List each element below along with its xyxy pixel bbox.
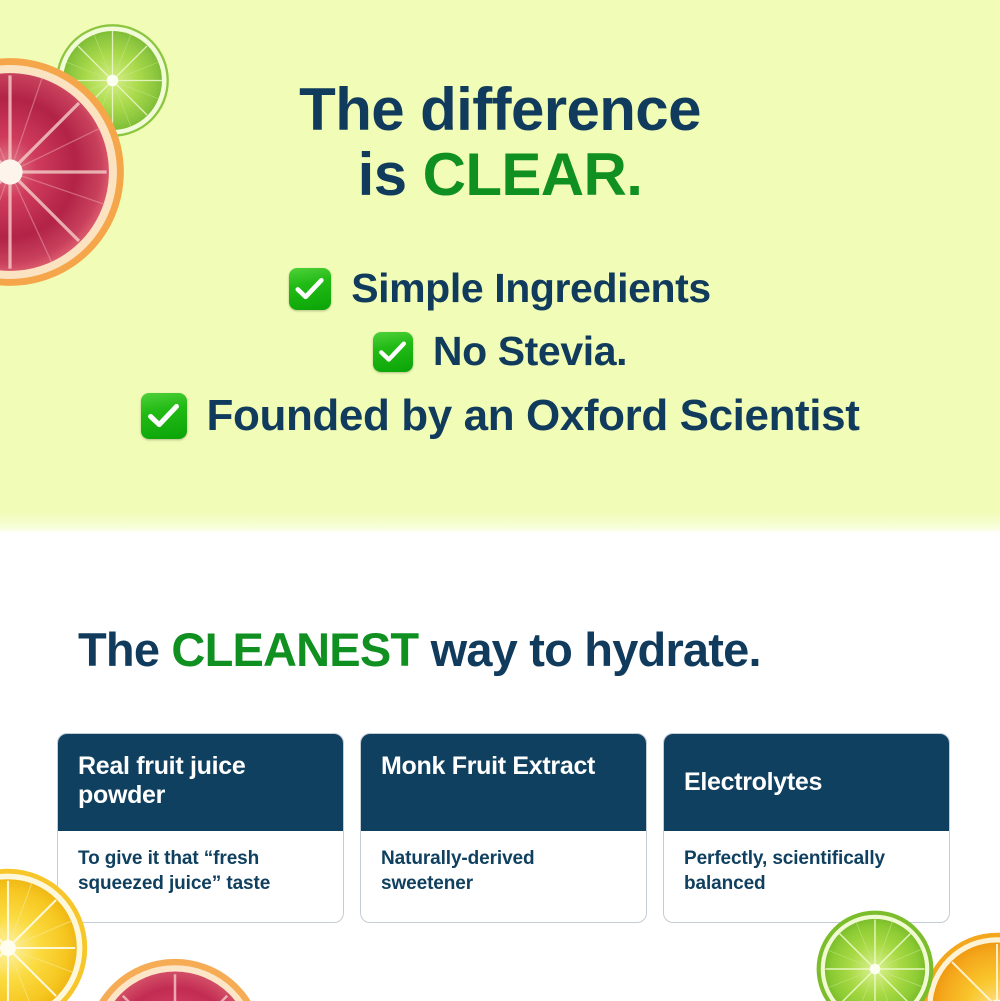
ingredient-card-row: Real fruit juice powder To give it that … <box>57 733 952 923</box>
blood-orange-slice-icon <box>85 958 265 1001</box>
section-heading-part-1: The <box>78 623 171 676</box>
ingredient-card-electrolytes: Electrolytes Perfectly, scientifically b… <box>663 733 950 923</box>
section-heading-cleanest: The CLEANEST way to hydrate. <box>78 622 958 677</box>
checklist-item-label: No Stevia. <box>433 328 627 375</box>
hero-checklist: Simple Ingredients No Stevia. Founded by… <box>0 265 1000 457</box>
hero-band: The difference is CLEAR. Simple Ingredie… <box>0 0 1000 533</box>
ingredient-card-real-fruit-juice-powder: Real fruit juice powder To give it that … <box>57 733 344 923</box>
section-heading-part-2: way to hydrate. <box>418 623 760 676</box>
section-heading-accent-cleanest: CLEANEST <box>171 623 418 676</box>
checklist-item-label: Simple Ingredients <box>351 265 711 312</box>
checklist-item: Simple Ingredients <box>0 265 1000 312</box>
lemon-slice-icon <box>0 868 88 1001</box>
headline-line-2: is CLEAR. <box>0 143 1000 208</box>
blood-orange-slice-icon <box>0 57 125 287</box>
ingredient-card-title: Real fruit juice powder <box>58 734 343 831</box>
ingredient-card-monk-fruit-extract: Monk Fruit Extract Naturally-derived swe… <box>360 733 647 923</box>
ingredient-card-description: Naturally-derived sweetener <box>361 831 646 922</box>
checklist-item: No Stevia. <box>0 328 1000 375</box>
ingredient-card-title: Electrolytes <box>664 734 949 831</box>
headline-accent-clear: CLEAR. <box>423 141 643 208</box>
check-mark-button-icon <box>289 268 331 310</box>
ingredient-card-description: Perfectly, scientifically balanced <box>664 831 949 922</box>
checklist-item-label: Founded by an Oxford Scientist <box>207 391 860 441</box>
infographic-page: The difference is CLEAR. Simple Ingredie… <box>0 0 1000 1001</box>
headline-line-1: The difference <box>299 76 701 143</box>
checklist-item: Founded by an Oxford Scientist <box>0 391 1000 441</box>
headline-line-2-plain: is <box>358 141 423 208</box>
lime-slice-icon <box>816 910 934 1001</box>
ingredient-card-description: To give it that “fresh squeezed juice” t… <box>58 831 343 922</box>
ingredient-card-title: Monk Fruit Extract <box>361 734 646 831</box>
check-mark-button-icon <box>373 332 413 372</box>
check-mark-button-icon <box>141 393 187 439</box>
